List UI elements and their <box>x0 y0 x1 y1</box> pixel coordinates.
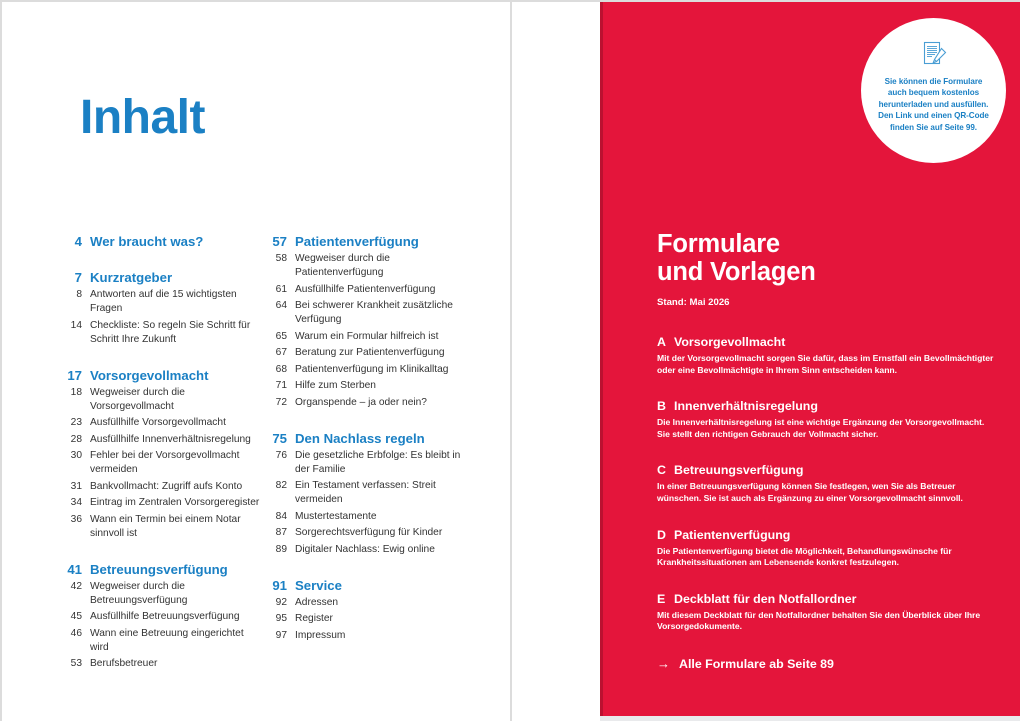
toc-entry-label: Eintrag im Zentralen Vorsorgeregister <box>90 496 260 510</box>
toc-entry[interactable]: 45Ausfüllhilfe Betreuungsverfügung <box>60 610 260 624</box>
toc-group: 7Kurzratgeber8Antworten auf die 15 wicht… <box>60 270 260 347</box>
toc-entry-page: 18 <box>60 386 82 400</box>
toc-section-heading[interactable]: 4Wer braucht was? <box>60 234 260 249</box>
toc-entry-label: Bei schwerer Krankheit zusätzliche Verfü… <box>295 299 465 327</box>
toc-entry-label: Bankvollmacht: Zugriff aufs Konto <box>90 480 260 494</box>
toc-group: 75Den Nachlass regeln76Die gesetzliche E… <box>265 431 465 557</box>
form-entry-heading: DPatientenverfügung <box>657 528 997 542</box>
all-forms-link[interactable]: → Alle Formulare ab Seite 89 <box>657 656 997 671</box>
toc-entry-page: 31 <box>60 480 82 494</box>
toc-entry-page: 95 <box>265 612 287 626</box>
toc-section-label: Patientenverfügung <box>295 234 465 249</box>
toc-entry-label: Digitaler Nachlass: Ewig online <box>295 543 465 557</box>
form-entry-letter: A <box>657 335 674 349</box>
toc-entry-page: 23 <box>60 416 82 430</box>
form-entry[interactable]: CBetreuungsverfügungIn einer Betreuungsv… <box>657 463 997 504</box>
form-entry-letter: D <box>657 528 674 542</box>
toc-entry-page: 36 <box>60 513 82 527</box>
toc-entry-label: Ausfüllhilfe Vorsorgevollmacht <box>90 416 260 430</box>
toc-section-heading[interactable]: 7Kurzratgeber <box>60 270 260 285</box>
toc-section-label: Vorsorgevollmacht <box>90 368 260 383</box>
right-page-forms: Sie können die Formulare auch bequem kos… <box>600 2 1020 716</box>
toc-entry-page: 71 <box>265 379 287 393</box>
toc-section-page: 91 <box>265 578 287 593</box>
form-entry-title: Deckblatt für den Notfallordner <box>674 592 997 606</box>
toc-entry[interactable]: 97Impressum <box>265 629 465 643</box>
toc-entry-page: 82 <box>265 479 287 493</box>
toc-section-page: 41 <box>60 562 82 577</box>
toc-entry[interactable]: 64Bei schwerer Krankheit zusätzliche Ver… <box>265 299 465 327</box>
toc-entry-label: Ein Testament verfassen: Streit vermeide… <box>295 479 465 507</box>
toc-entry-label: Mustertestamente <box>295 510 465 524</box>
page-title: Inhalt <box>80 90 205 145</box>
toc-entry-label: Wegweiser durch die Vorsorgevollmacht <box>90 386 260 414</box>
toc-entry[interactable]: 8Antworten auf die 15 wichtigsten Fragen <box>60 288 260 316</box>
toc-entry-page: 68 <box>265 363 287 377</box>
toc-section-heading[interactable]: 57Patientenverfügung <box>265 234 465 249</box>
toc-entry-label: Berufsbetreuer <box>90 657 260 671</box>
toc-entry-page: 97 <box>265 629 287 643</box>
toc-entry-page: 67 <box>265 346 287 360</box>
toc-entry-label: Checkliste: So regeln Sie Schritt für Sc… <box>90 319 260 347</box>
form-entry-letter: B <box>657 399 674 413</box>
toc-section-label: Wer braucht was? <box>90 234 260 249</box>
form-entry-title: Innenverhältnisregelung <box>674 399 997 413</box>
toc-entry[interactable]: 76Die gesetzliche Erbfolge: Es bleibt in… <box>265 449 465 477</box>
toc-section-heading[interactable]: 17Vorsorgevollmacht <box>60 368 260 383</box>
document-pencil-icon <box>919 40 949 70</box>
form-entry-description: Mit der Vorsorgevollmacht sorgen Sie daf… <box>657 353 997 376</box>
toc-group: 41Betreuungsverfügung42Wegweiser durch d… <box>60 562 260 672</box>
toc-section-label: Den Nachlass regeln <box>295 431 465 446</box>
toc-entry[interactable]: 95Register <box>265 612 465 626</box>
toc-section-heading[interactable]: 41Betreuungsverfügung <box>60 562 260 577</box>
toc-entry-page: 8 <box>60 288 82 302</box>
toc-section-label: Betreuungsverfügung <box>90 562 260 577</box>
toc-entry[interactable]: 36Wann ein Termin bei einem Notar sinnvo… <box>60 513 260 541</box>
toc-column-1: 4Wer braucht was?7Kurzratgeber8Antworten… <box>60 234 260 671</box>
toc-entry-label: Wann eine Betreuung eingerichtet wird <box>90 627 260 655</box>
toc-entry[interactable]: 42Wegweiser durch die Betreuungsverfügun… <box>60 580 260 608</box>
toc-entry-label: Patientenverfügung im Klinikalltag <box>295 363 465 377</box>
all-forms-link-label: Alle Formulare ab Seite 89 <box>679 657 997 671</box>
toc-entry-label: Ausfüllhilfe Innenverhältnisregelung <box>90 433 260 447</box>
toc-group: 91Service92Adressen95Register97Impressum <box>265 578 465 643</box>
toc-column-2: 57Patientenverfügung58Wegweiser durch di… <box>265 234 465 643</box>
form-entry-heading: EDeckblatt für den Notfallordner <box>657 592 997 606</box>
toc-entry[interactable]: 72Organspende – ja oder nein? <box>265 396 465 410</box>
toc-entry-page: 34 <box>60 496 82 510</box>
toc-section-label: Kurzratgeber <box>90 270 260 285</box>
book-spread: Inhalt 4Wer braucht was?7Kurzratgeber8An… <box>0 0 1020 721</box>
toc-entry-page: 84 <box>265 510 287 524</box>
arrow-right-icon: → <box>657 656 679 671</box>
toc-entry-label: Hilfe zum Sterben <box>295 379 465 393</box>
spine-shadow <box>600 2 603 716</box>
toc-entry[interactable]: 30Fehler bei der Vorsorgevollmacht verme… <box>60 449 260 477</box>
toc-entry[interactable]: 65Warum ein Formular hilfreich ist <box>265 330 465 344</box>
toc-entry[interactable]: 82Ein Testament verfassen: Streit vermei… <box>265 479 465 507</box>
toc-entry[interactable]: 31Bankvollmacht: Zugriff aufs Konto <box>60 480 260 494</box>
toc-entry[interactable]: 14Checkliste: So regeln Sie Schritt für … <box>60 319 260 347</box>
toc-entry-label: Wegweiser durch die Betreuungsverfügung <box>90 580 260 608</box>
toc-entry-label: Beratung zur Patientenverfügung <box>295 346 465 360</box>
badge-text: Sie können die Formulare auch bequem kos… <box>861 76 1006 133</box>
toc-entry-page: 65 <box>265 330 287 344</box>
toc-entry-label: Ausfüllhilfe Patientenverfügung <box>295 283 465 297</box>
toc-entry-page: 14 <box>60 319 82 333</box>
toc-entry-label: Ausfüllhilfe Betreuungsverfügung <box>90 610 260 624</box>
toc-section-page: 75 <box>265 431 287 446</box>
form-entry-title: Patientenverfügung <box>674 528 997 542</box>
form-entry[interactable]: BInnenverhältnisregelungDie Innenverhält… <box>657 399 997 440</box>
toc-entry[interactable]: 84Mustertestamente <box>265 510 465 524</box>
toc-entry-page: 46 <box>60 627 82 641</box>
toc-entry-label: Adressen <box>295 596 465 610</box>
toc-entry-page: 28 <box>60 433 82 447</box>
form-entry-letter: C <box>657 463 674 477</box>
form-entry[interactable]: AVorsorgevollmachtMit der Vorsorgevollma… <box>657 335 997 376</box>
toc-entry-label: Sorgerechtsverfügung für Kinder <box>295 526 465 540</box>
toc-entry[interactable]: 92Adressen <box>265 596 465 610</box>
toc-entry-page: 76 <box>265 449 287 463</box>
toc-entry-page: 30 <box>60 449 82 463</box>
stand-date: Stand: Mai 2026 <box>657 297 997 308</box>
form-entry-description: Die Patientenverfügung bietet die Möglic… <box>657 546 997 569</box>
toc-entry-page: 53 <box>60 657 82 671</box>
form-entry-description: Die Innenverhältnisregelung ist eine wic… <box>657 417 997 440</box>
toc-entry[interactable]: 71Hilfe zum Sterben <box>265 379 465 393</box>
toc-entry-label: Wann ein Termin bei einem Notar sinnvoll… <box>90 513 260 541</box>
toc-entry[interactable]: 61Ausfüllhilfe Patientenverfügung <box>265 283 465 297</box>
toc-entry[interactable]: 67Beratung zur Patientenverfügung <box>265 346 465 360</box>
toc-entry-label: Antworten auf die 15 wichtigsten Fragen <box>90 288 260 316</box>
toc-entry[interactable]: 34Eintrag im Zentralen Vorsorgeregister <box>60 496 260 510</box>
toc-entry-page: 89 <box>265 543 287 557</box>
page-bottom-edge <box>600 716 1020 721</box>
toc-entry[interactable]: 89Digitaler Nachlass: Ewig online <box>265 543 465 557</box>
toc-entry-label: Organspende – ja oder nein? <box>295 396 465 410</box>
toc-entry-page: 58 <box>265 252 287 266</box>
toc-section-page: 17 <box>60 368 82 383</box>
toc-entry-page: 45 <box>60 610 82 624</box>
toc-entry[interactable]: 53Berufsbetreuer <box>60 657 260 671</box>
toc-entry-label: Wegweiser durch die Patientenverfügung <box>295 252 465 280</box>
form-entry-description: In einer Betreuungsverfügung können Sie … <box>657 481 997 504</box>
form-entry-title: Betreuungsverfügung <box>674 463 997 477</box>
toc-entry-label: Die gesetzliche Erbfolge: Es bleibt in d… <box>295 449 465 477</box>
toc-entry[interactable]: 68Patientenverfügung im Klinikalltag <box>265 363 465 377</box>
toc-section-heading[interactable]: 75Den Nachlass regeln <box>265 431 465 446</box>
toc-entry[interactable]: 58Wegweiser durch die Patientenverfügung <box>265 252 465 280</box>
toc-entry[interactable]: 28Ausfüllhilfe Innenverhältnisregelung <box>60 433 260 447</box>
download-badge[interactable]: Sie können die Formulare auch bequem kos… <box>861 18 1006 163</box>
form-entry-title: Vorsorgevollmacht <box>674 335 997 349</box>
toc-entry-label: Impressum <box>295 629 465 643</box>
form-entry-description: Mit diesem Deckblatt für den Notfallordn… <box>657 610 997 633</box>
toc-entry[interactable]: 87Sorgerechtsverfügung für Kinder <box>265 526 465 540</box>
form-entry-heading: CBetreuungsverfügung <box>657 463 997 477</box>
forms-list: AVorsorgevollmachtMit der Vorsorgevollma… <box>657 335 997 633</box>
toc-entry[interactable]: 23Ausfüllhilfe Vorsorgevollmacht <box>60 416 260 430</box>
toc-entry-page: 92 <box>265 596 287 610</box>
toc-entry-page: 72 <box>265 396 287 410</box>
forms-title: Formulare und Vorlagen <box>657 230 997 286</box>
form-entry[interactable]: DPatientenverfügungDie Patientenverfügun… <box>657 528 997 569</box>
toc-group: 17Vorsorgevollmacht18Wegweiser durch die… <box>60 368 260 541</box>
form-entry-letter: E <box>657 592 674 606</box>
forms-content: Formulare und Vorlagen Stand: Mai 2026 A… <box>657 230 997 671</box>
toc-entry[interactable]: 18Wegweiser durch die Vorsorgevollmacht <box>60 386 260 414</box>
toc-entry-label: Fehler bei der Vorsorgevollmacht vermeid… <box>90 449 260 477</box>
form-entry-heading: BInnenverhältnisregelung <box>657 399 997 413</box>
toc-entry-page: 42 <box>60 580 82 594</box>
left-page-contents: Inhalt 4Wer braucht was?7Kurzratgeber8An… <box>2 2 512 721</box>
form-entry[interactable]: EDeckblatt für den NotfallordnerMit dies… <box>657 592 997 633</box>
toc-entry-label: Warum ein Formular hilfreich ist <box>295 330 465 344</box>
toc-entry-page: 61 <box>265 283 287 297</box>
toc-group: 4Wer braucht was? <box>60 234 260 249</box>
form-entry-heading: AVorsorgevollmacht <box>657 335 997 349</box>
toc-section-label: Service <box>295 578 465 593</box>
toc-section-page: 4 <box>60 234 82 249</box>
toc-entry[interactable]: 46Wann eine Betreuung eingerichtet wird <box>60 627 260 655</box>
toc-section-page: 7 <box>60 270 82 285</box>
toc-section-heading[interactable]: 91Service <box>265 578 465 593</box>
toc-entry-page: 64 <box>265 299 287 313</box>
toc-section-page: 57 <box>265 234 287 249</box>
toc-group: 57Patientenverfügung58Wegweiser durch di… <box>265 234 465 410</box>
toc-entry-page: 87 <box>265 526 287 540</box>
toc-entry-label: Register <box>295 612 465 626</box>
